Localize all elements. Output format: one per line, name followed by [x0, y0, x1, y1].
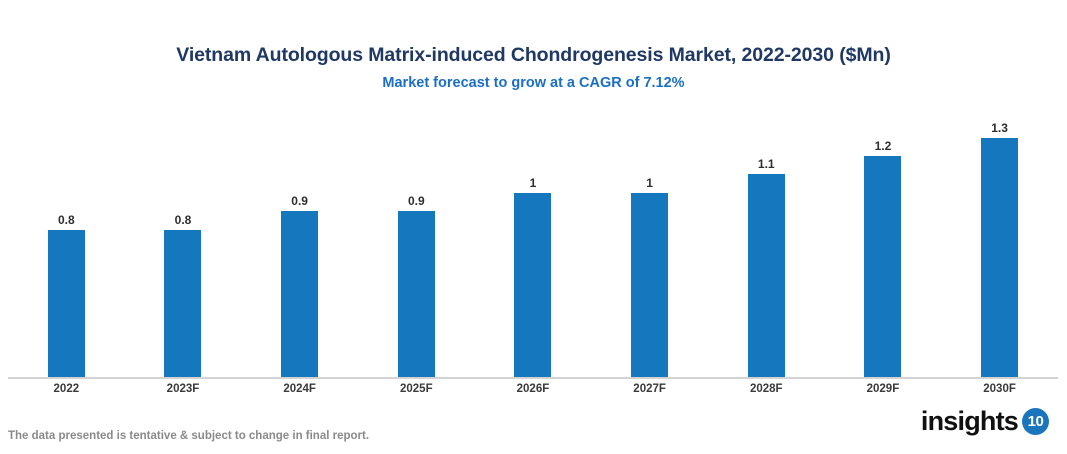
chart-title: Vietnam Autologous Matrix-induced Chondr…	[0, 43, 1067, 67]
bar-value-label: 1.2	[875, 139, 892, 153]
x-axis-line	[8, 377, 1058, 379]
bar-rect[interactable]	[748, 174, 785, 377]
logo-wordmark: insights	[921, 406, 1018, 436]
title-block: Vietnam Autologous Matrix-induced Chondr…	[0, 43, 1067, 92]
chart-card: Vietnam Autologous Matrix-induced Chondr…	[0, 0, 1067, 454]
axis-label-2030F: 2030F	[942, 380, 1058, 400]
axis-label-2025F: 2025F	[358, 380, 474, 400]
bar-value-label: 0.9	[291, 194, 308, 208]
axis-label-2026F: 2026F	[475, 380, 591, 400]
footer-disclaimer: The data presented is tentative & subjec…	[8, 428, 369, 444]
bar-group-2029F[interactable]: 1.2	[825, 110, 941, 377]
bar-rect[interactable]	[864, 156, 901, 377]
bar-value-label: 1.1	[758, 157, 775, 171]
logo-badge-icon: 10	[1022, 408, 1049, 435]
bar-rect[interactable]	[281, 211, 318, 377]
bar-rect[interactable]	[981, 138, 1018, 377]
bar-value-label: 1	[530, 176, 537, 190]
bar-rect[interactable]	[398, 211, 435, 377]
axis-label-2028F: 2028F	[708, 380, 824, 400]
bars-row: 0.80.80.90.9111.11.21.3	[8, 110, 1058, 377]
bar-value-label: 0.8	[58, 213, 75, 227]
axis-label-2024F: 2024F	[242, 380, 358, 400]
bar-group-2025F[interactable]: 0.9	[358, 110, 474, 377]
bar-rect[interactable]	[48, 230, 85, 377]
chart-subtitle: Market forecast to grow at a CAGR of 7.1…	[0, 74, 1067, 92]
bar-rect[interactable]	[514, 193, 551, 377]
bar-value-label: 0.9	[408, 194, 425, 208]
bar-value-label: 1.3	[991, 121, 1008, 135]
bar-value-label: 0.8	[175, 213, 192, 227]
bar-group-2030F[interactable]: 1.3	[942, 110, 1058, 377]
bar-rect[interactable]	[164, 230, 201, 377]
bar-rect[interactable]	[631, 193, 668, 377]
bar-group-2023F[interactable]: 0.8	[125, 110, 241, 377]
bar-group-2027F[interactable]: 1	[592, 110, 708, 377]
insights10-logo: insights 10	[921, 406, 1049, 436]
bar-value-label: 1	[646, 176, 653, 190]
bar-group-2022[interactable]: 0.8	[8, 110, 124, 377]
bar-group-2024F[interactable]: 0.9	[242, 110, 358, 377]
bar-group-2028F[interactable]: 1.1	[708, 110, 824, 377]
axis-label-2023F: 2023F	[125, 380, 241, 400]
axis-label-2027F: 2027F	[592, 380, 708, 400]
axis-label-2029F: 2029F	[825, 380, 941, 400]
x-axis-labels: 20222023F2024F2025F2026F2027F2028F2029F2…	[8, 380, 1058, 400]
plot-area: 0.80.80.90.9111.11.21.3	[8, 110, 1058, 377]
axis-label-2022: 2022	[8, 380, 124, 400]
bar-group-2026F[interactable]: 1	[475, 110, 591, 377]
